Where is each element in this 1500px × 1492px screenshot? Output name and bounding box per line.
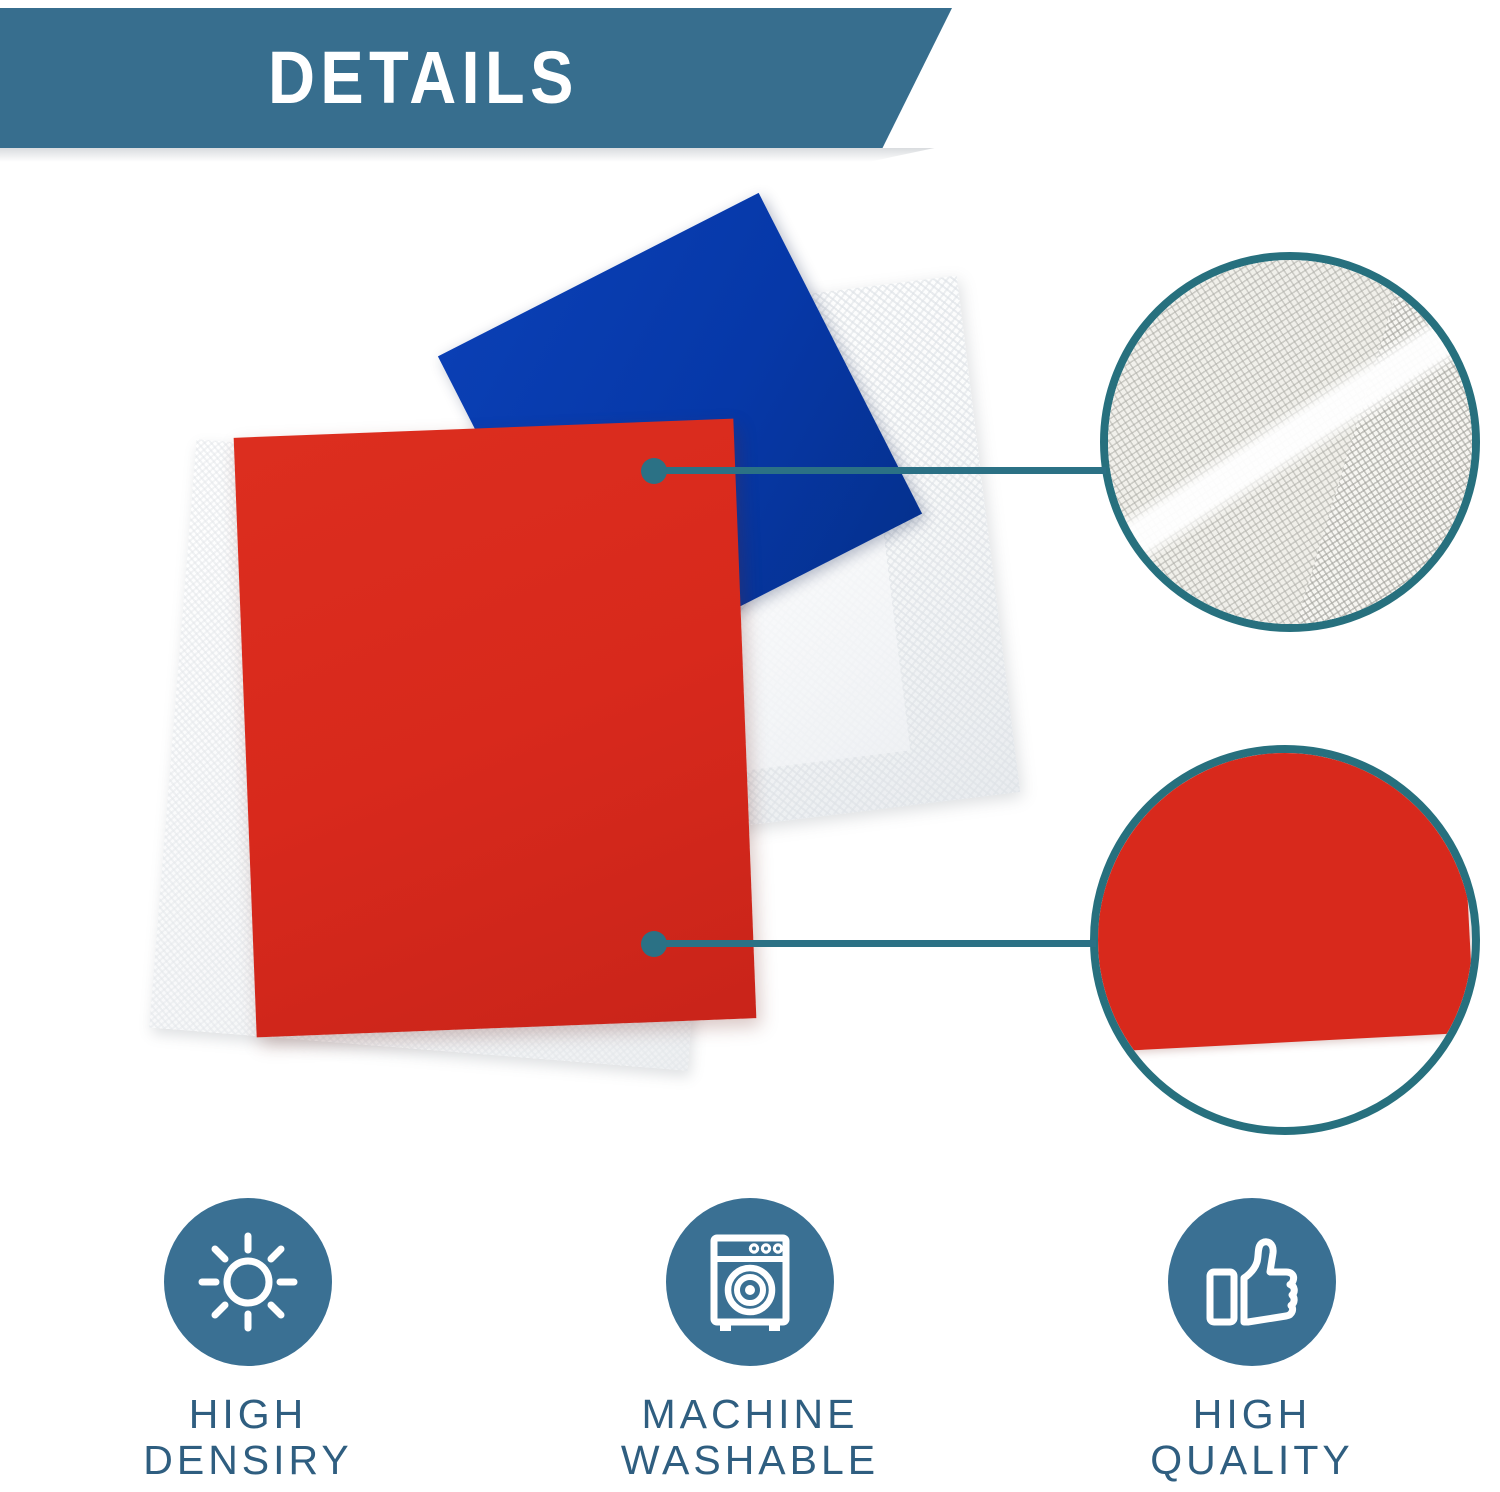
washing-machine-icon bbox=[694, 1226, 806, 1338]
feature-label-high-quality: HIGH QUALITY bbox=[1150, 1392, 1353, 1484]
detail-circle-fabric-weave bbox=[1100, 252, 1480, 632]
feature-label-machine-washable: MACHINE WASHABLE bbox=[621, 1392, 879, 1484]
feature-label-high-density: HIGH DENSIRY bbox=[143, 1392, 353, 1484]
red-fabric-closeup-icon bbox=[1090, 745, 1475, 1057]
details-banner: DETAILS bbox=[0, 8, 952, 148]
page-title: DETAILS bbox=[268, 41, 579, 115]
product-photo bbox=[0, 160, 1060, 1180]
callout-line-red-fabric bbox=[654, 940, 1096, 947]
feature-high-quality: HIGH QUALITY bbox=[1087, 1198, 1417, 1484]
feature-machine-washable: MACHINE WASHABLE bbox=[585, 1198, 915, 1484]
feature-list: HIGH DENSIRY MACHINE WASHABLE bbox=[0, 1198, 1500, 1484]
callout-dot-fabric-weave bbox=[641, 458, 667, 484]
detail-circle-red-fabric bbox=[1090, 745, 1480, 1135]
sun-icon bbox=[192, 1226, 304, 1338]
callout-line-fabric-weave bbox=[654, 467, 1106, 474]
banner-shadow bbox=[0, 148, 944, 162]
callout-dot-red-fabric bbox=[641, 931, 667, 957]
feature-badge-machine-washable bbox=[666, 1198, 834, 1366]
feature-high-density: HIGH DENSIRY bbox=[83, 1198, 413, 1484]
thumbs-up-icon bbox=[1196, 1226, 1308, 1338]
feature-badge-high-quality bbox=[1168, 1198, 1336, 1366]
fabric-fold-highlight bbox=[1108, 260, 1472, 624]
feature-badge-high-density bbox=[164, 1198, 332, 1366]
